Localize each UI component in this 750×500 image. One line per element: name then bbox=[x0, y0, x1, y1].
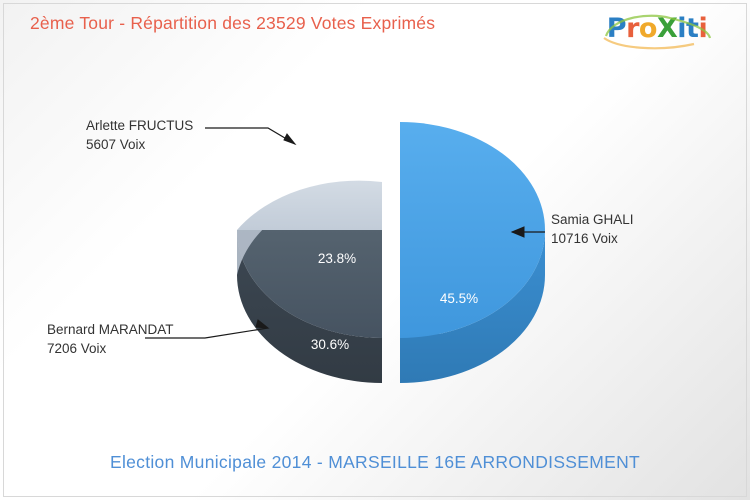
callout-bernard-marandat[interactable]: Bernard MARANDAT 7206 Voix bbox=[47, 320, 174, 358]
proxiti-logo[interactable]: ProXiti bbox=[592, 12, 722, 52]
page-title: 2ème Tour - Répartition des 23529 Votes … bbox=[30, 13, 435, 34]
callout-arlette-fructus[interactable]: Arlette FRUCTUS 5607 Voix bbox=[86, 116, 193, 154]
logo-swoosh-icon bbox=[598, 14, 716, 50]
slice-samia-ghali[interactable] bbox=[400, 122, 545, 383]
slice-bernard-marandat[interactable] bbox=[237, 230, 382, 383]
callout-name-arlette-fructus: Arlette FRUCTUS bbox=[86, 118, 193, 133]
slice-label-arlette-fructus: 23.8% bbox=[318, 251, 356, 266]
slice-label-bernard-marandat: 30.6% bbox=[311, 337, 349, 352]
callout-votes-arlette-fructus: 5607 Voix bbox=[86, 135, 193, 154]
callout-samia-ghali[interactable]: Samia GHALI 10716 Voix bbox=[551, 210, 634, 248]
callout-name-bernard-marandat: Bernard MARANDAT bbox=[47, 322, 174, 337]
slice-label-samia-ghali: 45.5% bbox=[440, 291, 478, 306]
callout-votes-samia-ghali: 10716 Voix bbox=[551, 229, 634, 248]
callout-name-samia-ghali: Samia GHALI bbox=[551, 212, 634, 227]
pie-chart: 45.5% 30.6% 23.8% Arlette FRUCTUS 5607 V… bbox=[0, 60, 750, 440]
callout-votes-bernard-marandat: 7206 Voix bbox=[47, 339, 174, 358]
chart-subtitle: Election Municipale 2014 - MARSEILLE 16E… bbox=[0, 452, 750, 473]
